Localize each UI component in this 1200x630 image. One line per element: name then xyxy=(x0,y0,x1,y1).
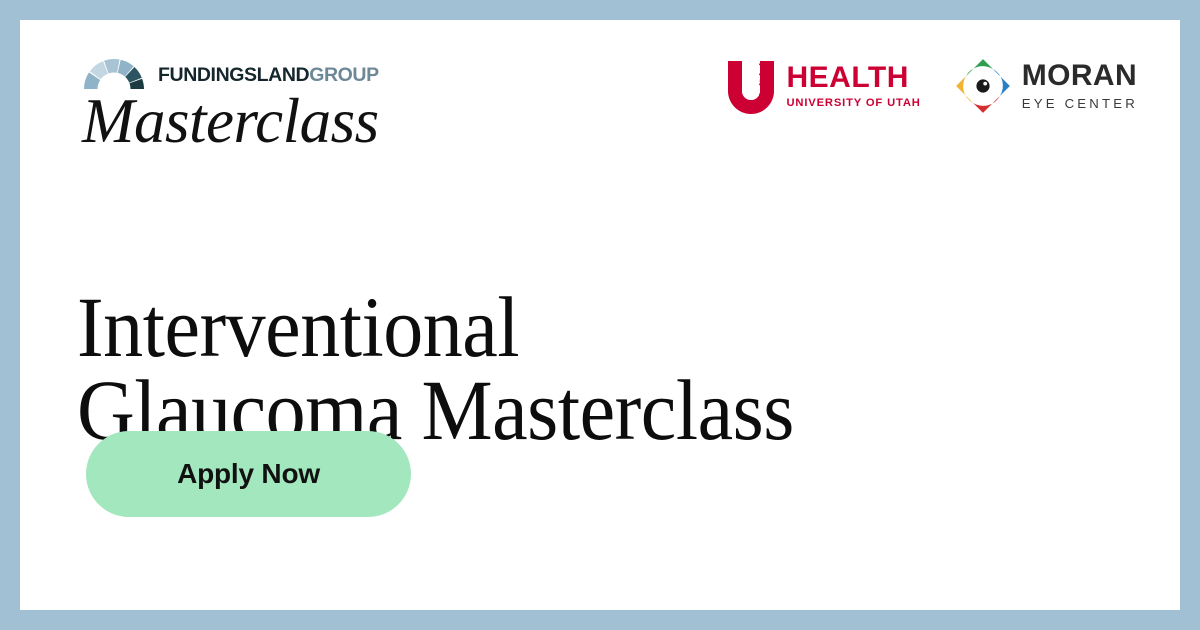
brand-wordmark-secondary: GROUP xyxy=(309,64,379,86)
page-title: Interventional Glaucoma Masterclass xyxy=(77,286,970,453)
moran-eye-diamond-icon xyxy=(955,58,1011,114)
logo-university-of-utah-health[interactable]: HEALTH UNIVERSITY OF UTAH xyxy=(726,59,920,114)
poster-canvas: FUNDINGSLANDGROUP Masterclass xyxy=(20,20,1180,610)
moran-text: MORAN EYE CENTER xyxy=(1022,61,1138,110)
poster-frame: FUNDINGSLANDGROUP Masterclass xyxy=(0,0,1200,630)
page-title-line-1: Interventional xyxy=(77,286,970,369)
brand-script-word: Masterclass xyxy=(82,88,438,154)
apply-now-button[interactable]: Apply Now xyxy=(86,431,411,517)
logo-moran-eye-center[interactable]: MORAN EYE CENTER xyxy=(955,58,1138,114)
u-of-u-health-text: HEALTH UNIVERSITY OF UTAH xyxy=(786,63,920,109)
partner-logos: HEALTH UNIVERSITY OF UTAH xyxy=(726,58,1138,114)
brand-lockup[interactable]: FUNDINGSLANDGROUP Masterclass xyxy=(78,46,438,154)
brand-top-row: FUNDINGSLANDGROUP xyxy=(78,46,438,90)
u-of-u-health-subtitle: UNIVERSITY OF UTAH xyxy=(786,98,920,109)
u-of-u-block-u-icon xyxy=(726,59,776,114)
brand-wordmark: FUNDINGSLANDGROUP xyxy=(158,66,379,86)
u-of-u-health-name: HEALTH xyxy=(786,63,920,93)
moran-name: MORAN xyxy=(1022,61,1138,91)
fundingsland-fan-icon xyxy=(78,50,150,90)
brand-wordmark-primary: FUNDINGSLAND xyxy=(158,64,309,86)
moran-subtitle: EYE CENTER xyxy=(1022,97,1138,110)
header: FUNDINGSLANDGROUP Masterclass xyxy=(20,20,1180,140)
